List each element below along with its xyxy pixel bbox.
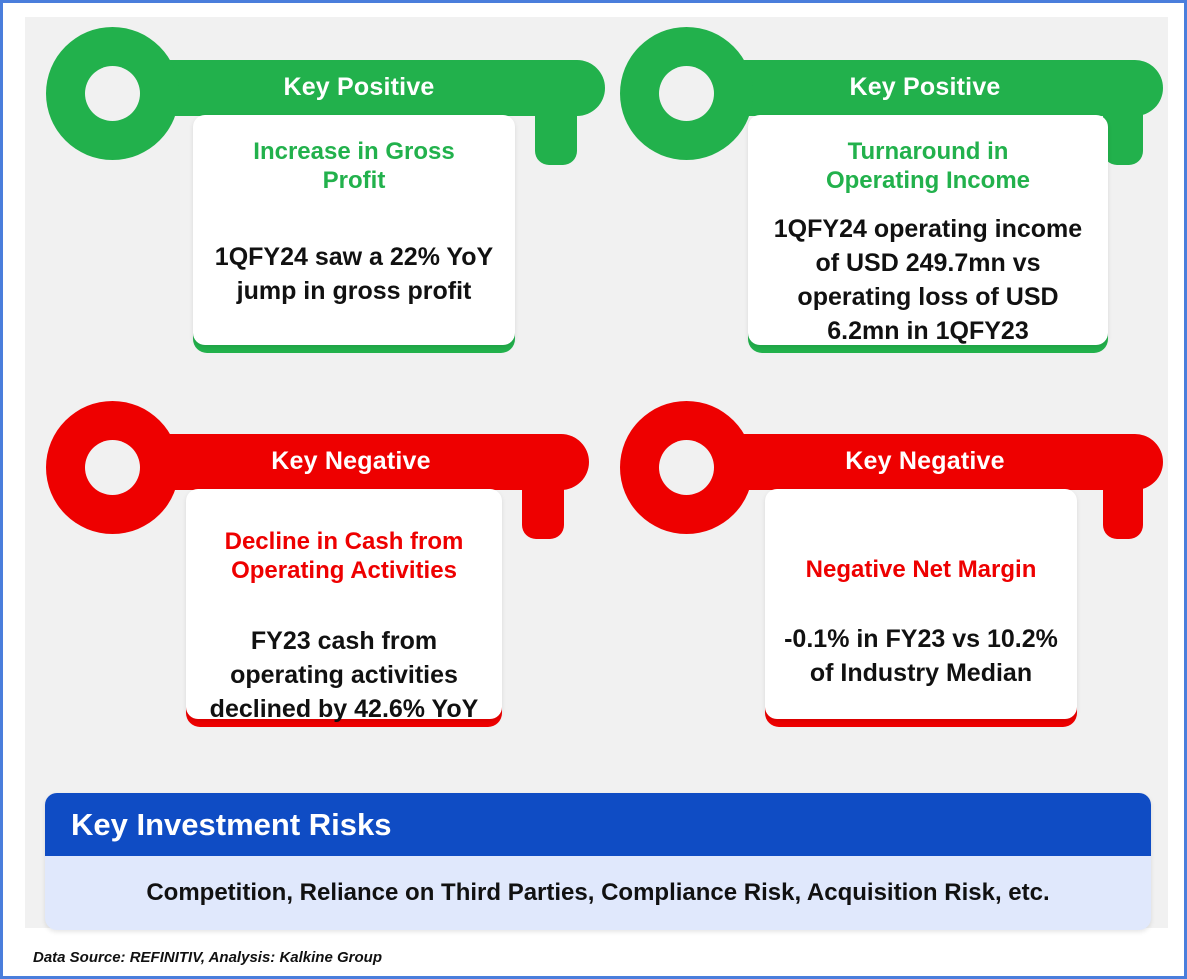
risks-text: Competition, Reliance on Third Parties, … <box>146 879 1049 907</box>
risks-title: Key Investment Risks <box>71 807 391 843</box>
key-shaft-2: Key Positive <box>687 60 1163 116</box>
risks-header: Key Investment Risks <box>45 793 1151 856</box>
key-head-3 <box>46 401 179 534</box>
card-heading-4: Negative Net Margin <box>806 555 1037 584</box>
key-head-2 <box>620 27 753 160</box>
card-body-3: FY23 cash from operating activities decl… <box>204 624 484 726</box>
card-heading-2: Turnaround in Operating Income <box>813 137 1043 196</box>
card-body-1: 1QFY24 saw a 22% YoY jump in gross profi… <box>211 240 497 308</box>
key-head-hole-3 <box>85 440 140 495</box>
key-head-hole-4 <box>659 440 714 495</box>
key-tooth-3 <box>522 477 564 539</box>
card-3: Decline in Cash from Operating Activitie… <box>186 489 502 719</box>
key-head-1 <box>46 27 179 160</box>
card-body-2: 1QFY24 operating income of USD 249.7mn v… <box>766 212 1090 348</box>
card-heading-3: Decline in Cash from Operating Activitie… <box>204 527 484 586</box>
key-head-hole-1 <box>85 66 140 121</box>
card-heading-1: Increase in Gross Profit <box>229 137 479 196</box>
badge-label-3: Key Negative <box>271 447 430 476</box>
infographic-canvas: Key Positive Increase in Gross Profit 1Q… <box>0 0 1187 979</box>
badge-label-2: Key Positive <box>849 73 1000 102</box>
data-source-footer: Data Source: REFINITIV, Analysis: Kalkin… <box>33 949 382 966</box>
key-head-4 <box>620 401 753 534</box>
key-tooth-1 <box>535 103 577 165</box>
key-shaft-3: Key Negative <box>113 434 589 490</box>
key-shaft-1: Key Positive <box>113 60 605 116</box>
key-tooth-4 <box>1103 477 1143 539</box>
badge-label-1: Key Positive <box>283 73 434 102</box>
key-tooth-2 <box>1103 103 1143 165</box>
key-head-hole-2 <box>659 66 714 121</box>
card-1: Increase in Gross Profit 1QFY24 saw a 22… <box>193 115 515 345</box>
card-4: Negative Net Margin -0.1% in FY23 vs 10.… <box>765 489 1077 719</box>
card-body-4: -0.1% in FY23 vs 10.2% of Industry Media… <box>783 622 1059 690</box>
key-investment-risks-panel: Key Investment Risks Competition, Relian… <box>45 793 1151 930</box>
key-shaft-4: Key Negative <box>687 434 1163 490</box>
risks-body: Competition, Reliance on Third Parties, … <box>45 856 1151 930</box>
card-2: Turnaround in Operating Income 1QFY24 op… <box>748 115 1108 345</box>
badge-label-4: Key Negative <box>845 447 1004 476</box>
